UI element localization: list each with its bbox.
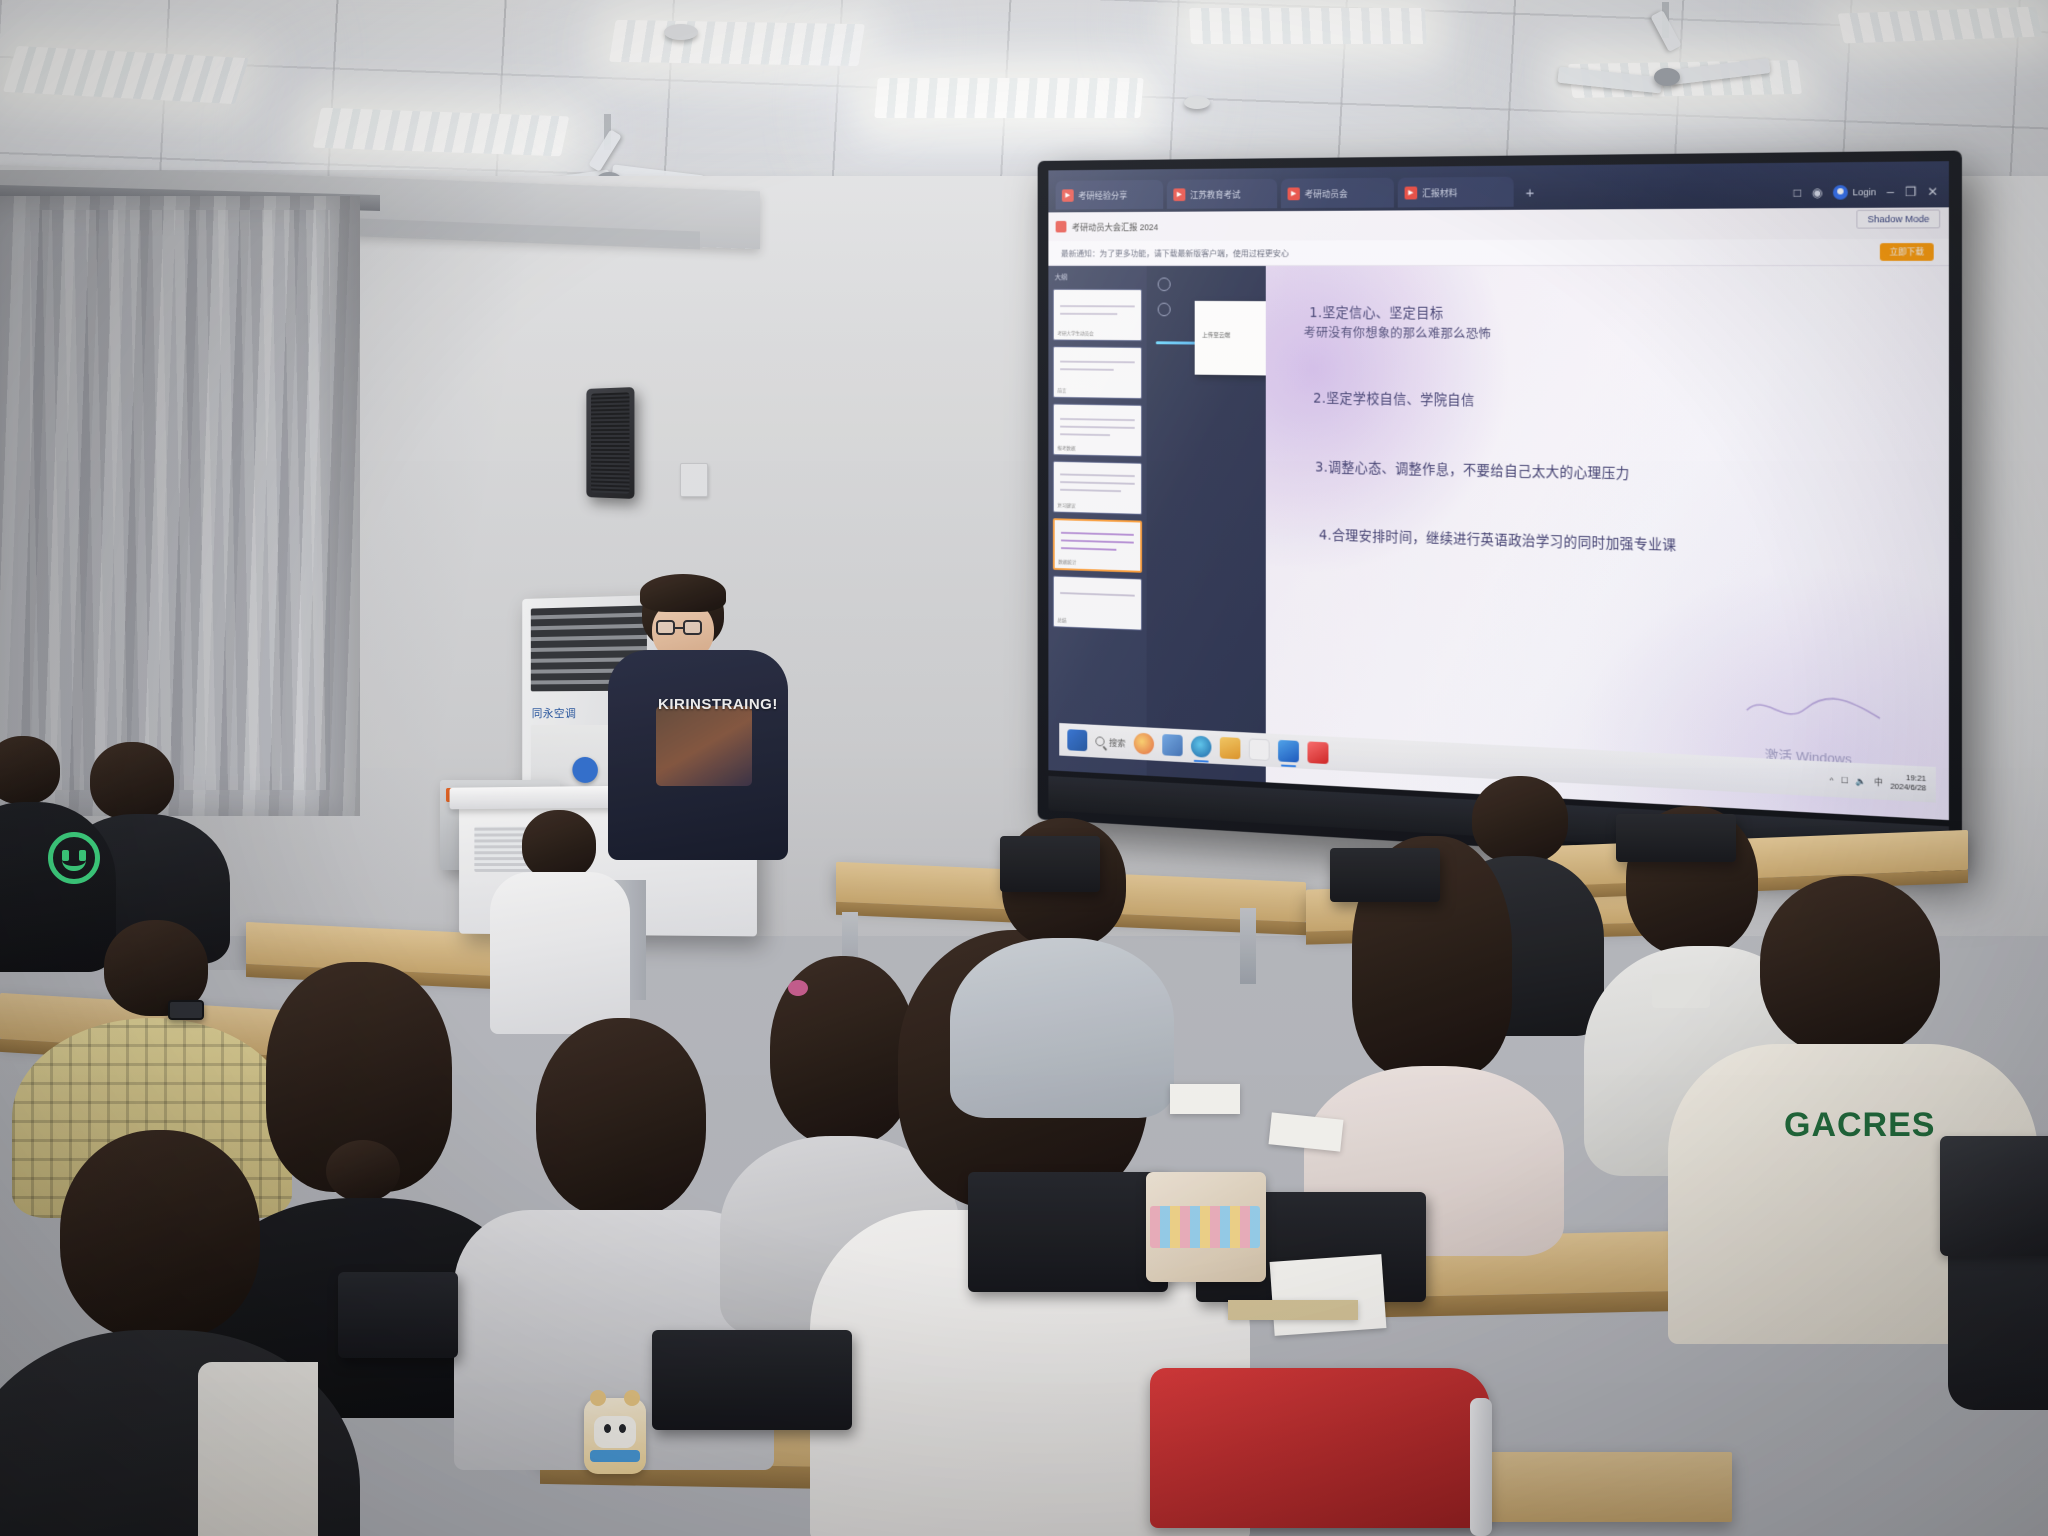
task-view-icon[interactable] <box>1162 734 1182 756</box>
login-label: Login <box>1853 187 1877 198</box>
network-icon[interactable]: ☐ <box>1841 775 1849 785</box>
slide-line-4: 4.合理安排时间，继续进行英语政治学习的同时加强专业课 <box>1319 524 1677 554</box>
slide-thumbnail-selected[interactable]: 数据统计 <box>1053 518 1142 573</box>
wall-speaker <box>586 387 634 499</box>
thumb-caption: 复习建议 <box>1057 502 1075 509</box>
pdf-icon <box>1062 189 1074 202</box>
browser-tabs: 考研经验分享 江苏教育考试 考研动员会 汇报材料 + <box>1048 174 1783 212</box>
shirt-graphic <box>656 706 752 786</box>
hair-tie <box>788 980 808 996</box>
chair[interactable] <box>1330 848 1440 902</box>
taskbar-tray[interactable]: ^ ☐ 🔈 中 19:21 2024/6/28 <box>1829 770 1926 793</box>
close-button[interactable]: ✕ <box>1927 184 1938 199</box>
tab-label: 江苏教育考试 <box>1190 187 1240 200</box>
download-button[interactable]: 立即下载 <box>1880 243 1934 261</box>
notice-text: 最新通知：为了更多功能，请下载最新版客户端，使用过程更安心 <box>1061 247 1289 259</box>
volume-icon[interactable]: 🔈 <box>1856 776 1867 786</box>
pdf-icon <box>1405 186 1418 199</box>
search-icon <box>1095 736 1104 746</box>
smartphone[interactable] <box>168 1000 204 1020</box>
chair[interactable] <box>652 1330 852 1430</box>
slide-thumbnail[interactable]: 复习建议 <box>1053 461 1142 515</box>
presenter-hair-top <box>640 574 726 612</box>
new-tab-button[interactable]: + <box>1518 184 1543 206</box>
drinking-straw <box>1470 1398 1492 1536</box>
shirt-text: KIRINSTRAING! <box>658 696 778 713</box>
chevron-up-icon[interactable]: ^ <box>1829 775 1833 785</box>
taskbar-clock[interactable]: 19:21 2024/6/28 <box>1890 773 1926 793</box>
tab-label: 考研经验分享 <box>1078 188 1127 201</box>
presentation-side-panel: 上传至云端 <box>1147 266 1266 782</box>
minimize-button[interactable]: – <box>1887 185 1894 200</box>
maximize-button[interactable]: ❐ <box>1905 185 1917 200</box>
slide-thumbnail[interactable]: 前言 <box>1053 346 1142 399</box>
paper-sheet[interactable] <box>1269 1112 1344 1151</box>
weather-widget-icon[interactable] <box>1134 733 1154 755</box>
slide-line-1: 1.坚定信心、坚定目标 <box>1309 301 1443 321</box>
settings-icon[interactable] <box>1158 303 1171 317</box>
red-backpack[interactable] <box>1150 1368 1490 1528</box>
notebook-open[interactable] <box>1170 1084 1240 1114</box>
tab-label: 考研动员会 <box>1305 187 1348 200</box>
outline-tab[interactable]: 大纲 <box>1053 272 1142 284</box>
pdf-icon <box>1173 188 1185 201</box>
bag-pattern <box>1150 1206 1260 1248</box>
thumb-caption: 数据统计 <box>1058 559 1076 566</box>
collections-icon[interactable]: □ <box>1794 185 1802 200</box>
browser-tab-bar: 考研经验分享 江苏教育考试 考研动员会 汇报材料 + <box>1048 161 1948 212</box>
file-explorer-icon[interactable] <box>1220 737 1241 760</box>
window-controls: □ ◉ Login – ❐ ✕ <box>1783 184 1949 208</box>
refresh-icon[interactable] <box>1158 278 1171 292</box>
mascot-plush[interactable] <box>584 1398 646 1474</box>
browser-tab[interactable]: 考研动员会 <box>1281 178 1394 208</box>
hoodie-text: GACRES <box>1784 1106 1935 1145</box>
browser-tab[interactable]: 汇报材料 <box>1398 177 1514 208</box>
edge-browser-icon[interactable] <box>1191 735 1211 757</box>
taskbar-search[interactable]: 搜索 <box>1095 735 1125 749</box>
shadow-mode-badge[interactable]: Shadow Mode <box>1857 209 1940 228</box>
interactive-display[interactable]: 考研经验分享 江苏教育考试 考研动员会 汇报材料 + <box>1038 151 1962 876</box>
notice-bar: 最新通知：为了更多功能，请下载最新版客户端，使用过程更安心 立即下载 <box>1048 239 1948 266</box>
slide-line-2: 2.坚定学校自信、学院自信 <box>1313 387 1474 409</box>
ceiling-light <box>1189 8 1427 44</box>
thumb-caption: 报考数据 <box>1057 445 1075 452</box>
chair[interactable] <box>1616 814 1736 862</box>
pdf-icon <box>1056 221 1067 233</box>
browser-secondary-tab-bar: 考研动员大会汇报 2024 <box>1048 207 1948 241</box>
ac-brand-label: 同永空调 <box>532 705 576 721</box>
desk-leg <box>1240 908 1256 984</box>
classroom-scene: 同永空调 考研经验分享 江苏教育考试 考研 <box>0 0 2048 1536</box>
search-placeholder: 搜索 <box>1109 736 1125 749</box>
slide-decoration-squiggle <box>1745 690 1882 731</box>
pdf-icon <box>1288 187 1300 200</box>
student-mid-1 <box>486 810 636 1020</box>
slide-thumbnail[interactable]: 总结 <box>1053 576 1142 631</box>
slide-thumbnail-panel: 大纲 考研大学生动员会 前言 报考数据 <box>1048 266 1146 776</box>
thumb-caption: 前言 <box>1057 387 1066 394</box>
display-screen[interactable]: 考研经验分享 江苏教育考试 考研动员会 汇报材料 + <box>1048 161 1948 820</box>
white-shirt <box>198 1362 318 1536</box>
mail-app-icon[interactable] <box>1278 740 1299 763</box>
wps-office-icon[interactable] <box>1249 738 1270 761</box>
start-button-icon[interactable] <box>1067 729 1087 751</box>
slide-line-3: 3.调整心态、调整作息，不要给自己太大的心理压力 <box>1315 456 1630 483</box>
smoke-detector-icon <box>664 24 698 40</box>
login-button[interactable]: Login <box>1833 185 1876 200</box>
ac-logo-icon <box>572 757 598 783</box>
thumb-caption: 总结 <box>1057 617 1066 624</box>
slide-thumbnail[interactable]: 报考数据 <box>1053 404 1142 457</box>
slide-line-1b: 考研没有你想象的那么难那么恐怖 <box>1304 322 1492 342</box>
wechat-app-icon[interactable] <box>1307 741 1328 764</box>
slide-canvas[interactable]: 1.坚定信心、坚定目标 考研没有你想象的那么难那么恐怖 2.坚定学校自信、学院自… <box>1266 266 1949 820</box>
browser-tab[interactable]: 江苏教育考试 <box>1167 179 1277 209</box>
student-foreground-left <box>0 1130 330 1536</box>
clock-date: 2024/6/28 <box>1890 781 1926 792</box>
light-switch[interactable] <box>680 463 708 497</box>
chair[interactable] <box>968 1172 1168 1292</box>
paper-sheet[interactable] <box>1270 1254 1387 1336</box>
globe-icon[interactable]: ◉ <box>1812 185 1823 200</box>
ceiling-light <box>609 20 865 66</box>
hair-bun <box>326 1140 400 1202</box>
secondary-tab-label[interactable]: 考研动员大会汇报 2024 <box>1072 220 1158 233</box>
avatar <box>1833 185 1848 200</box>
tab-label: 汇报材料 <box>1422 186 1457 199</box>
thumb-caption: 考研大学生动员会 <box>1057 330 1093 337</box>
chair[interactable] <box>1000 836 1100 892</box>
backpack[interactable] <box>1940 1136 2048 1256</box>
presenter: KIRINSTRAING! <box>614 578 794 858</box>
student-back-left-2 <box>0 722 110 952</box>
ceiling-light <box>874 78 1143 118</box>
smiley-face-icon <box>48 832 100 884</box>
chair[interactable] <box>338 1272 458 1358</box>
slide-thumbnail[interactable]: 考研大学生动员会 <box>1053 289 1142 341</box>
ime-indicator[interactable]: 中 <box>1874 776 1883 788</box>
smoke-detector-icon <box>1184 96 1210 109</box>
notebook[interactable] <box>1228 1300 1358 1320</box>
browser-tab[interactable]: 考研经验分享 <box>1056 180 1164 210</box>
